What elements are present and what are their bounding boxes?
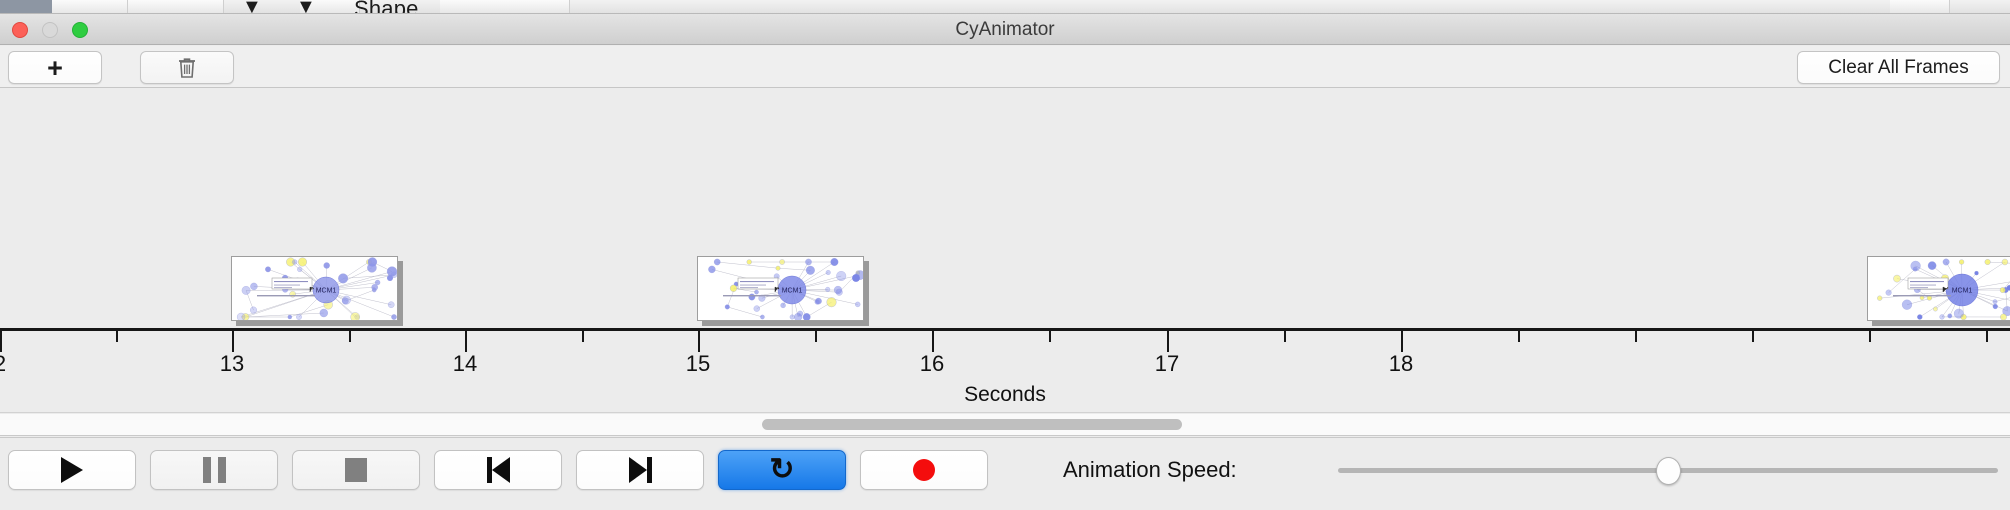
slider-thumb[interactable] [1656,457,1681,485]
thumbnail-canvas: MCM1 [697,256,864,321]
axis-tick-label: 13 [220,351,244,377]
add-frame-button[interactable]: + [8,51,102,84]
timeline-axis-line [0,328,2010,331]
axis-tick [932,331,934,352]
axis-tick [1635,331,1637,342]
axis-tick [232,331,234,352]
toolbar: + Clear All Frames [0,46,2010,88]
stop-icon [345,458,367,482]
timeline-scrollbar-track[interactable] [0,414,2010,436]
axis-title: Seconds [0,383,2010,407]
svg-text:MCM1: MCM1 [316,288,337,295]
axis-tick [465,331,467,352]
clear-all-frames-button[interactable]: Clear All Frames [1797,51,2000,84]
axis-tick [1518,331,1520,342]
svg-text:MCM1: MCM1 [1952,288,1973,295]
axis-tick-label: 15 [686,351,710,377]
keyframe-thumbnail[interactable]: MCM1 [1867,256,2010,326]
svg-text:MCM1: MCM1 [782,288,803,295]
skip-end-icon [629,457,652,483]
background-caret-icon: ▼ [242,2,262,12]
keyframe-thumbnail[interactable]: MCM1 [697,256,869,326]
axis-tick-label: 17 [1155,351,1179,377]
loop-icon: ↻ [769,455,794,485]
axis-tick [1869,331,1871,342]
axis-tick-label: 16 [920,351,944,377]
background-window-strip: ▼ ▼ Shape [0,0,2010,14]
pause-button[interactable] [150,450,278,490]
plus-icon: + [47,58,63,78]
axis-tick [349,331,351,342]
axis-tick [1284,331,1286,342]
keyframe-thumbnail[interactable]: MCM1 [231,256,403,326]
skip-to-end-button[interactable] [576,450,704,490]
animation-speed-slider[interactable] [1338,450,1998,490]
timeline-scrollbar-thumb[interactable] [762,419,1182,430]
skip-start-icon [487,457,510,483]
background-window-label: Shape [354,0,419,14]
axis-tick [582,331,584,342]
axis-tick [116,331,118,342]
delete-frame-button[interactable] [140,51,234,84]
axis-tick [815,331,817,342]
record-icon [913,459,935,481]
play-button[interactable] [8,450,136,490]
axis-tick [1401,331,1403,352]
thumbnail-canvas: MCM1 [231,256,398,321]
title-bar: CyAnimator [0,14,2010,45]
background-window-segment [52,0,128,14]
axis-tick-label: 14 [453,351,477,377]
axis-tick [1752,331,1754,342]
axis-tick [1986,331,1988,342]
background-caret-icon: ▼ [296,2,316,12]
record-button[interactable] [860,450,988,490]
axis-tick [698,331,700,352]
skip-to-start-button[interactable] [434,450,562,490]
background-window-dark-segment [0,0,52,14]
axis-tick [1049,331,1051,342]
loop-button[interactable]: ↻ [718,450,846,490]
timeline-panel[interactable]: MCM1MCM1MCM1 2131415161718 Seconds [0,88,2010,413]
axis-tick [0,331,2,352]
axis-tick-label: 2 [0,351,6,377]
play-icon [61,457,83,483]
axis-tick [1167,331,1169,352]
background-window-segment [128,0,224,14]
axis-tick-label: 18 [1389,351,1413,377]
window-title: CyAnimator [0,14,2010,45]
stop-button[interactable] [292,450,420,490]
thumbnail-canvas: MCM1 [1867,256,2010,321]
clear-all-frames-label: Clear All Frames [1828,57,1968,79]
background-window-segment [440,0,570,14]
background-window-segment [1890,0,1950,14]
animation-speed-label: Animation Speed: [1063,450,1237,490]
pause-icon [203,457,226,483]
transport-bar: ↻ Animation Speed: [0,437,2010,510]
trash-icon [177,56,197,80]
